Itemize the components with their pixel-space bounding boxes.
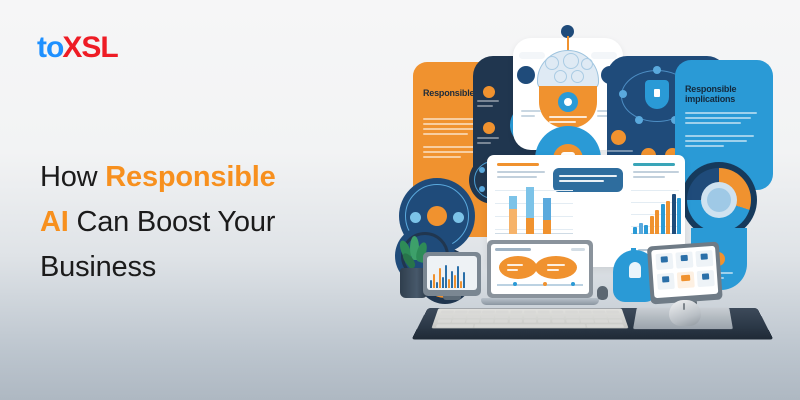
tablet-left-chart [430, 264, 465, 288]
brain-chest-badge-inner [564, 98, 572, 106]
orange-panel-people-left [410, 212, 421, 223]
grouped-bar-chart [631, 186, 679, 244]
laptop-venn-label-left [507, 264, 523, 274]
tablet-bar [460, 281, 462, 288]
navy-node-label-2 [477, 137, 499, 147]
bar-b-orange [526, 218, 534, 234]
bar-2 [639, 223, 643, 234]
grouped-bars [633, 194, 681, 234]
tablet-icon-glyph-6 [702, 273, 709, 279]
bar-a-blue [509, 196, 517, 209]
key-row2[interactable] [580, 315, 593, 318]
navy-node-2 [483, 122, 495, 134]
headline-accent-responsible: Responsible [105, 161, 275, 193]
brain-texture-3 [581, 58, 593, 70]
page-headline: How Responsible AI Can Boost Your Busine… [40, 155, 370, 290]
bar-a [509, 196, 517, 234]
key-row1[interactable] [441, 311, 454, 314]
laptop-sparkline-dot-1 [513, 282, 517, 286]
tablet-bar [457, 266, 459, 288]
right-chart-accent-bar [633, 163, 675, 166]
tablet-bar [442, 277, 444, 288]
bar-8 [672, 194, 676, 234]
darkblue-bulb-1 [611, 130, 626, 145]
logo-text-to: to [37, 31, 63, 64]
tablet-bar [448, 279, 450, 288]
key-row2[interactable] [607, 315, 620, 318]
brain-callout-right [591, 52, 617, 59]
key-row1[interactable] [454, 311, 467, 314]
panel-responsible-implications-body [685, 112, 757, 150]
key-row2[interactable] [439, 315, 452, 318]
key-row2[interactable] [524, 315, 537, 318]
laptop-sparkline-dot-3 [571, 282, 575, 286]
mouse-scroll-wheel[interactable] [683, 303, 685, 310]
key-row2[interactable] [538, 315, 551, 318]
key-row4[interactable] [586, 324, 624, 327]
laptop-screen-header-right [571, 248, 585, 251]
key-row2[interactable] [495, 315, 508, 318]
key-row3[interactable] [480, 320, 493, 323]
gridline [631, 190, 679, 191]
key-row4[interactable] [436, 324, 474, 327]
tablet-bar [436, 282, 438, 288]
key-row1[interactable] [482, 311, 495, 314]
key-row1[interactable] [496, 311, 509, 314]
bar-b [526, 187, 534, 234]
headline-accent-ai: AI [40, 206, 69, 238]
key-row1[interactable] [551, 311, 564, 314]
darkblue-node-c [653, 66, 661, 74]
bar-b-blue [526, 187, 534, 218]
key-row2[interactable] [481, 315, 494, 318]
key-row1[interactable] [606, 311, 619, 314]
darkblue-node-a [619, 90, 627, 98]
brain-side-icon-left [517, 66, 535, 84]
laptop-sparkline-dot-2 [543, 282, 547, 286]
tablet-icon-glyph-2 [681, 255, 688, 261]
key-row2[interactable] [566, 315, 579, 318]
stacked-bar-chart [495, 186, 573, 244]
headline-line3-plain: Business [40, 251, 156, 283]
bar-7 [666, 201, 670, 234]
navy-node-1 [483, 86, 495, 98]
bar-a-orange [509, 209, 517, 234]
bar-c [543, 198, 551, 234]
key-row3[interactable] [552, 320, 565, 323]
tablet-icon-glyph-3 [700, 253, 707, 259]
brain-texture-4 [554, 70, 567, 83]
tablet-bar [451, 271, 453, 288]
left-chart-subtitle [497, 171, 545, 181]
key-row1[interactable] [579, 311, 592, 314]
brain-texture-5 [571, 70, 584, 83]
tablet-icon-glyph-1 [661, 256, 668, 262]
tablet-bar [433, 274, 435, 288]
bulb-filament-icon [629, 262, 641, 278]
key-row3[interactable] [580, 320, 593, 323]
key-row2[interactable] [453, 315, 466, 318]
key-row3[interactable] [538, 320, 551, 323]
bar-9 [677, 198, 681, 234]
tablet-bar [463, 272, 465, 288]
keyboard[interactable] [431, 308, 628, 328]
tablet-left-stand [443, 296, 461, 300]
laptop[interactable] [487, 240, 593, 310]
brain-body-caption [549, 116, 587, 126]
key-row2[interactable] [510, 315, 523, 318]
analytics-card-title [559, 175, 617, 185]
key-row1[interactable] [592, 311, 605, 314]
key-row3[interactable] [609, 320, 623, 323]
bar-c-blue [543, 198, 551, 220]
logo-text-x: X [62, 31, 81, 64]
logo-text-sl: SL [81, 31, 117, 64]
donut-chart-center-globe [707, 188, 731, 212]
key-row1[interactable] [565, 311, 578, 314]
brain-callout-left [519, 52, 545, 59]
tablet-icon-glyph-4 [662, 276, 669, 282]
orange-panel-inner-dot [427, 206, 447, 226]
hero-illustration: Responsible AI in [395, 0, 800, 400]
mouse[interactable] [669, 300, 701, 326]
key-row1[interactable] [524, 311, 536, 314]
key-row1[interactable] [510, 311, 522, 314]
key-row2[interactable] [467, 315, 480, 318]
key-row1[interactable] [468, 311, 481, 314]
laptop-venn-label-right [547, 264, 565, 274]
tablet-left[interactable] [423, 252, 481, 300]
toxsl-logo[interactable]: toXSL [37, 33, 118, 63]
orange-panel-people-right [453, 212, 464, 223]
bar-5 [655, 210, 659, 234]
navy-molecule-sat-3 [479, 186, 485, 192]
key-row3[interactable] [524, 320, 537, 323]
key-row3[interactable] [509, 320, 522, 323]
bar-c-orange [543, 220, 551, 234]
small-mouse[interactable] [597, 286, 608, 300]
headline-line1-plain: How [40, 161, 105, 193]
navy-molecule-sat-1 [479, 167, 485, 173]
left-chart-accent-bar [497, 163, 539, 166]
tablet-bar [454, 275, 456, 288]
tablet-bar [445, 265, 447, 288]
tablet-icon-glyph-5-handshake-icon [681, 275, 690, 282]
brain-texture-1 [545, 56, 559, 70]
headline-line2-plain: Can Boost Your [69, 206, 276, 238]
panel-responsible-implications-title: Responsible implications [685, 84, 769, 105]
stacked-bars [509, 187, 551, 234]
brain-leg-label-left [521, 110, 541, 120]
key-row3[interactable] [466, 320, 479, 323]
key-row2[interactable] [593, 315, 606, 318]
bar-3 [644, 225, 648, 234]
bar-6 [661, 204, 665, 234]
navy-node-label-1 [477, 100, 499, 110]
key-row3[interactable] [595, 320, 609, 323]
laptop-base [481, 298, 599, 305]
tablet-bar [430, 280, 432, 288]
brain-texture-2 [563, 53, 579, 69]
key-row2[interactable] [552, 315, 565, 318]
key-row3[interactable] [495, 320, 508, 323]
key-spacebar[interactable] [474, 324, 585, 327]
bar-4 [650, 216, 654, 234]
right-chart-subtitle [633, 171, 679, 181]
bar-1 [633, 227, 637, 234]
key-row3[interactable] [566, 320, 579, 323]
brain-antenna-stem [567, 36, 569, 50]
laptop-screen-header [495, 248, 531, 251]
tablet-bar [439, 268, 441, 288]
key-row1[interactable] [538, 311, 550, 314]
key-row3[interactable] [437, 320, 451, 323]
key-row3[interactable] [452, 320, 466, 323]
darkblue-node-d [635, 116, 643, 124]
